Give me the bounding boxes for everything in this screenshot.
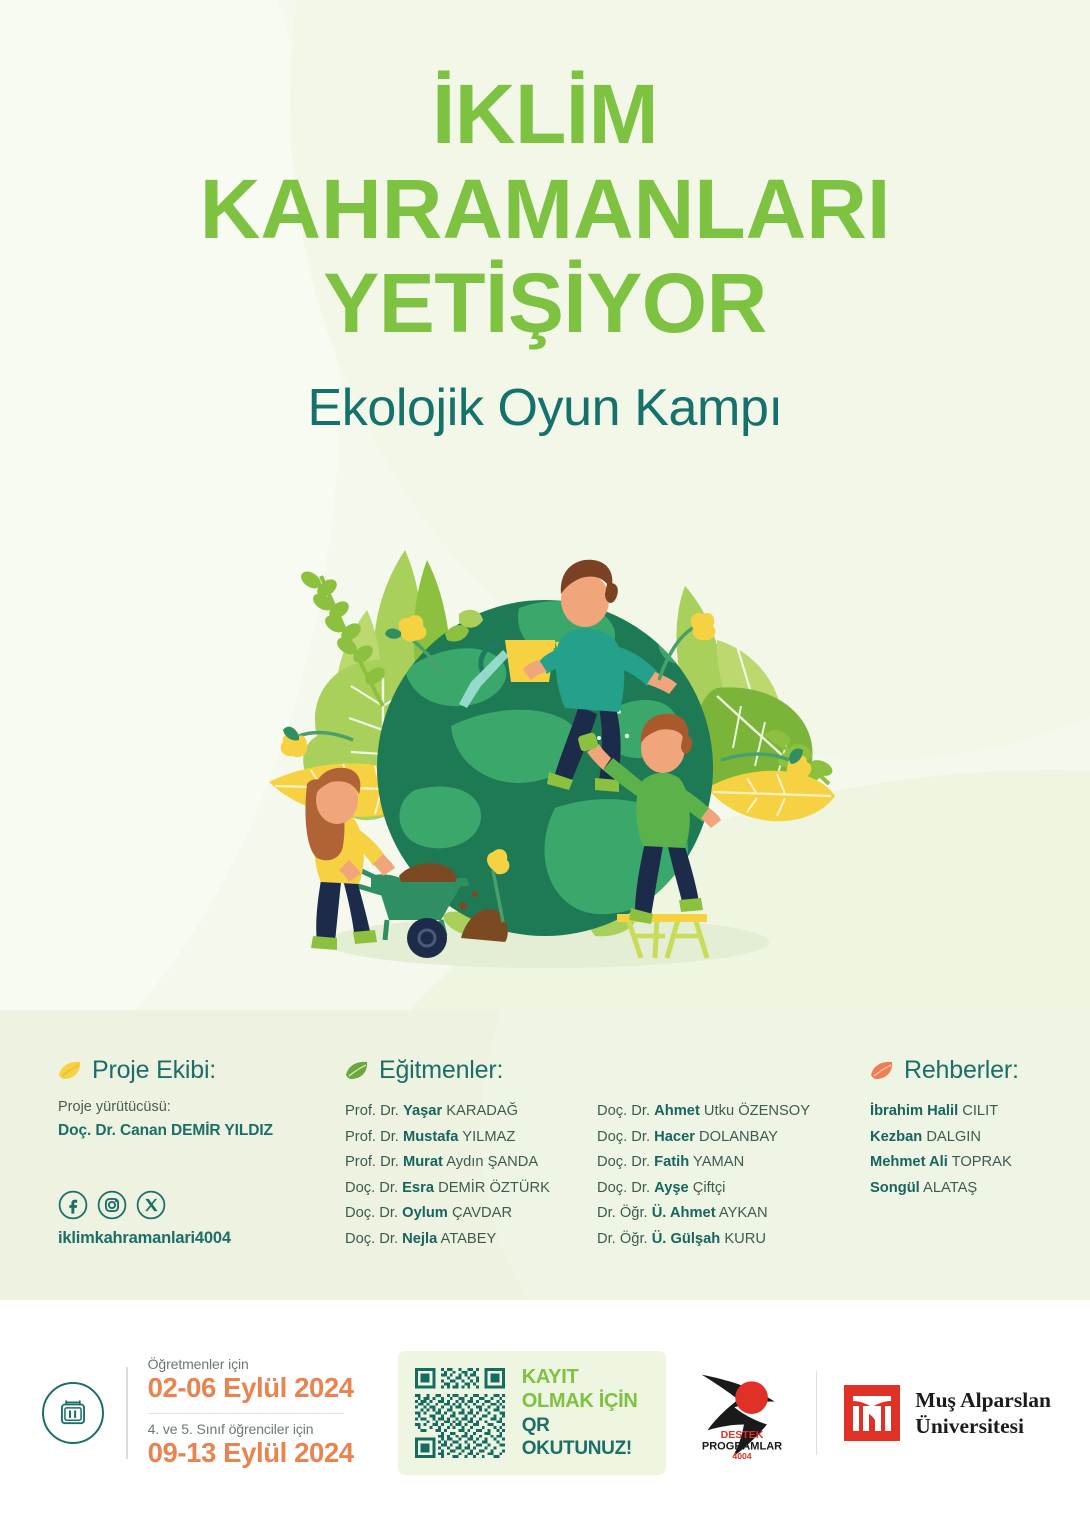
team-role-label: Proje yürütücüsü: [58,1099,358,1115]
university-name-line-2: Üniversitesi [915,1413,1051,1439]
4004-label: 4004 [732,1451,751,1461]
x-twitter-icon[interactable] [136,1190,166,1220]
teachers-date-caption: Öğretmenler için [148,1356,354,1372]
social-handle: iklimkahramanlari4004 [58,1229,358,1248]
name-prefix: Prof. Dr. [345,1129,403,1145]
instructor-name: Doç. Dr. Esra DEMİR ÖZTÜRK [345,1176,597,1202]
leaf-icon-yellow [58,1061,82,1080]
name-surname: ATABEY [437,1231,496,1247]
name-prefix: Prof. Dr. [345,1154,403,1170]
name-surname: Aydın ŞANDA [443,1154,538,1170]
earth-gardening-illustration [255,490,835,990]
name-surname: AYKAN [716,1205,768,1221]
instructor-name: Prof. Dr. Yaşar KARADAĞ [345,1099,597,1125]
qr-text-line-2: OLMAK İÇİN [522,1390,652,1414]
name-prefix: Doç. Dr. [597,1129,654,1145]
guides-heading: Rehberler: [870,1056,1090,1085]
name-given: Ü. Gülşah [652,1231,721,1247]
mus-alparslan-logo: Muş Alparslan Üniversitesi [843,1384,1051,1442]
social-links[interactable] [58,1190,358,1220]
name-given: Nejla [402,1231,437,1247]
name-prefix: Doç. Dr. [597,1154,654,1170]
instructor-name: Doç. Dr. Ahmet Utku ÖZENSOY [597,1099,849,1125]
dates-block: Öğretmenler için 02-06 Eylül 2024 4. ve … [42,1356,354,1469]
students-date-caption: 4. ve 5. Sınıf öğrenciler için [148,1421,354,1437]
guide-name: Songül ALATAŞ [870,1176,1090,1202]
destek-label: DESTEK [720,1429,763,1441]
title-line-2: KAHRAMANLARI [0,169,1090,250]
footer-bar: Öğretmenler için 02-06 Eylül 2024 4. ve … [0,1300,1090,1526]
credits-column-instructors: Eğitmenler: Prof. Dr. Yaşar KARADAĞProf.… [345,1056,855,1252]
name-surname: YAMAN [689,1154,744,1170]
leaf-icon-coral [870,1061,894,1080]
name-surname: CILIT [958,1103,998,1119]
name-surname: YILMAZ [458,1129,515,1145]
name-given: Mustafa [403,1129,459,1145]
name-given: Hacer [654,1129,695,1145]
name-surname: DALGIN [922,1129,981,1145]
instructor-name: Doç. Dr. Hacer DOLANBAY [597,1125,849,1151]
title-line-3: YETİŞİYOR [0,263,1090,344]
university-crest-icon [843,1384,901,1442]
facebook-icon[interactable] [58,1190,88,1220]
instructors-heading-label: Eğitmenler: [379,1056,503,1085]
name-prefix: Doç. Dr. [345,1205,402,1221]
date-divider [148,1413,344,1414]
name-given: Murat [403,1154,443,1170]
instructor-list-column-2: Doç. Dr. Ahmet Utku ÖZENSOYDoç. Dr. Hace… [597,1099,849,1252]
tubitak-4004-logo: DESTEK PROGRAMLAR 4004 [694,1365,790,1461]
name-surname: ALATAŞ [920,1180,977,1196]
credits-column-team: Proje Ekibi: Proje yürütücüsü: Doç. Dr. … [58,1056,358,1248]
name-prefix: Dr. Öğr. [597,1231,652,1247]
instructor-list-column-1: Prof. Dr. Yaşar KARADAĞProf. Dr. Mustafa… [345,1099,597,1252]
instructor-name: Doç. Dr. Ayşe Çiftçi [597,1176,849,1202]
name-given: Esra [402,1180,434,1196]
name-given: Yaşar [403,1103,442,1119]
name-prefix: Doç. Dr. [345,1231,402,1247]
name-prefix: Doç. Dr. [597,1103,654,1119]
name-surname: Çiftçi [689,1180,726,1196]
instructor-name: Dr. Öğr. Ü. Gülşah KURU [597,1227,849,1253]
credits-band: Proje Ekibi: Proje yürütücüsü: Doç. Dr. … [0,1010,1090,1300]
qr-code-icon[interactable] [412,1365,508,1461]
qr-registration-card[interactable]: KAYIT OLMAK İÇİN QR OKUTUNUZ! [398,1351,666,1475]
name-surname: DEMİR ÖZTÜRK [434,1180,550,1196]
name-given: Ayşe [654,1180,689,1196]
credits-column-guides: Rehberler: İbrahim Halil CILITKezban DAL… [870,1056,1090,1201]
divider [126,1367,128,1459]
guide-list: İbrahim Halil CILITKezban DALGINMehmet A… [870,1099,1090,1201]
guide-name: Mehmet Ali TOPRAK [870,1150,1090,1176]
university-name-line-1: Muş Alparslan [915,1387,1051,1413]
name-surname: DOLANBAY [695,1129,778,1145]
hero-section: İKLİM KAHRAMANLARI YETİŞİYOR Ekolojik Oy… [0,0,1090,1010]
team-heading: Proje Ekibi: [58,1056,358,1085]
instructor-name: Doç. Dr. Nejla ATABEY [345,1227,597,1253]
qr-text-line-1: KAYIT [522,1366,652,1390]
name-prefix: Dr. Öğr. [597,1205,652,1221]
name-given: Kezban [870,1129,922,1145]
name-prefix: Doç. Dr. [345,1180,402,1196]
qr-text-line-3: QR OKUTUNUZ! [522,1415,652,1460]
name-prefix: Doç. Dr. [597,1180,654,1196]
name-surname: KURU [720,1231,766,1247]
name-surname: ÇAVDAR [448,1205,512,1221]
instructor-name: Doç. Dr. Fatih YAMAN [597,1150,849,1176]
name-prefix: Prof. Dr. [345,1103,403,1119]
name-given: Ü. Ahmet [652,1205,716,1221]
name-given: Oylum [402,1205,448,1221]
instructor-name: Doç. Dr. Oylum ÇAVDAR [345,1201,597,1227]
logo-divider [816,1371,818,1455]
guide-name: Kezban DALGIN [870,1125,1090,1151]
teachers-date-value: 02-06 Eylül 2024 [148,1372,354,1404]
guide-name: İbrahim Halil CILIT [870,1099,1090,1125]
poster-title: İKLİM KAHRAMANLARI YETİŞİYOR Ekolojik Oy… [0,74,1090,438]
logo-group: DESTEK PROGRAMLAR 4004 Muş Alparslan [694,1365,1051,1461]
instructor-name: Prof. Dr. Murat Aydın ŞANDA [345,1150,597,1176]
students-date-value: 09-13 Eylül 2024 [148,1437,354,1469]
name-given: Mehmet Ali [870,1154,948,1170]
name-surname: Utku ÖZENSOY [700,1103,810,1119]
poster-subtitle: Ekolojik Oyun Kampı [0,378,1090,438]
name-given: Fatih [654,1154,689,1170]
leaf-icon-green [345,1061,369,1080]
guides-heading-label: Rehberler: [904,1056,1019,1085]
name-surname: TOPRAK [948,1154,1012,1170]
name-given: Songül [870,1180,920,1196]
instagram-icon[interactable] [97,1190,127,1220]
instructors-heading: Eğitmenler: [345,1056,855,1085]
name-given: Ahmet [654,1103,700,1119]
name-given: İbrahim Halil [870,1103,958,1119]
name-surname: KARADAĞ [442,1103,518,1119]
team-heading-label: Proje Ekibi: [92,1056,216,1085]
instructor-name: Prof. Dr. Mustafa YILMAZ [345,1125,597,1151]
instructor-name: Dr. Öğr. Ü. Ahmet AYKAN [597,1201,849,1227]
title-line-1: İKLİM [0,74,1090,155]
team-lead-name: Doç. Dr. Canan DEMİR YILDIZ [58,1122,358,1140]
poster-root: İKLİM KAHRAMANLARI YETİŞİYOR Ekolojik Oy… [0,0,1090,1526]
calendar-icon [42,1382,104,1444]
